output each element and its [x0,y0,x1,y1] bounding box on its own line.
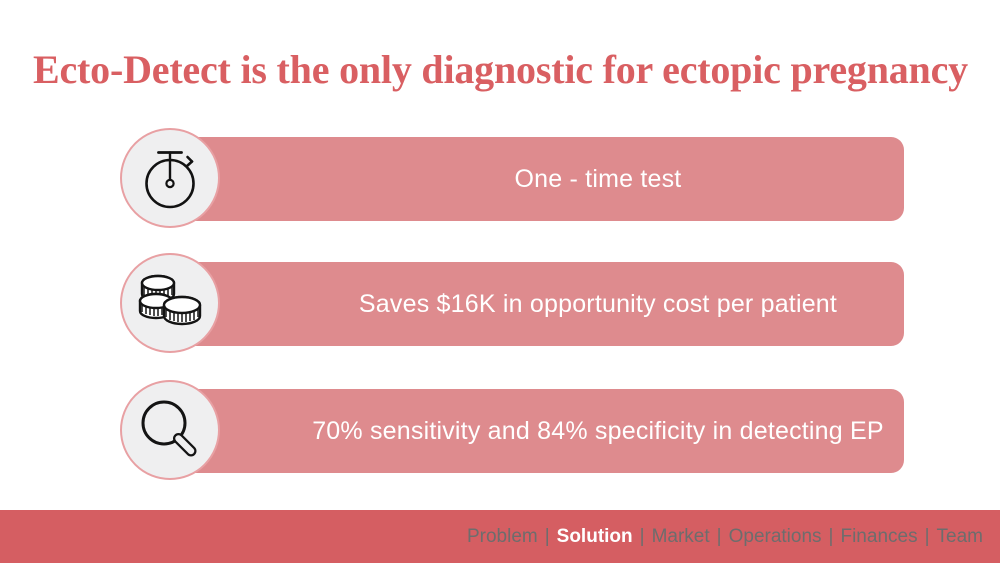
feature-icon-badge [120,380,220,480]
footer-nav: Problem | Solution | Market | Operations… [467,510,983,563]
nav-item-problem[interactable]: Problem [467,525,538,548]
feature-bar[interactable]: 70% sensitivity and 84% specificity in d… [172,389,904,473]
nav-separator: | [538,525,557,548]
nav-item-finances[interactable]: Finances [840,525,917,548]
coins-icon [136,271,204,335]
feature-label: 70% sensitivity and 84% specificity in d… [312,416,884,446]
feature-row[interactable]: One - time test [120,126,904,230]
feature-label: Saves $16K in opportunity cost per patie… [359,289,837,319]
nav-separator: | [710,525,729,548]
nav-separator: | [633,525,652,548]
feature-row[interactable]: 70% sensitivity and 84% specificity in d… [120,378,904,482]
stopwatch-icon [134,142,206,214]
feature-icon-badge [120,253,220,353]
nav-item-solution[interactable]: Solution [557,525,633,548]
feature-bar[interactable]: Saves $16K in opportunity cost per patie… [172,262,904,346]
footer-bar: Problem | Solution | Market | Operations… [0,510,1000,563]
magnifier-icon [136,396,204,464]
nav-item-market[interactable]: Market [652,525,710,548]
nav-item-team[interactable]: Team [937,525,983,548]
nav-separator: | [918,525,937,548]
slide: Ecto-Detect is the only diagnostic for e… [0,0,1000,563]
feature-icon-badge [120,128,220,228]
feature-list: One - time test Saves $16K in [0,0,1000,500]
nav-item-operations[interactable]: Operations [729,525,822,548]
feature-label: One - time test [515,164,682,194]
nav-separator: | [822,525,841,548]
feature-bar[interactable]: One - time test [172,137,904,221]
feature-row[interactable]: Saves $16K in opportunity cost per patie… [120,251,904,355]
